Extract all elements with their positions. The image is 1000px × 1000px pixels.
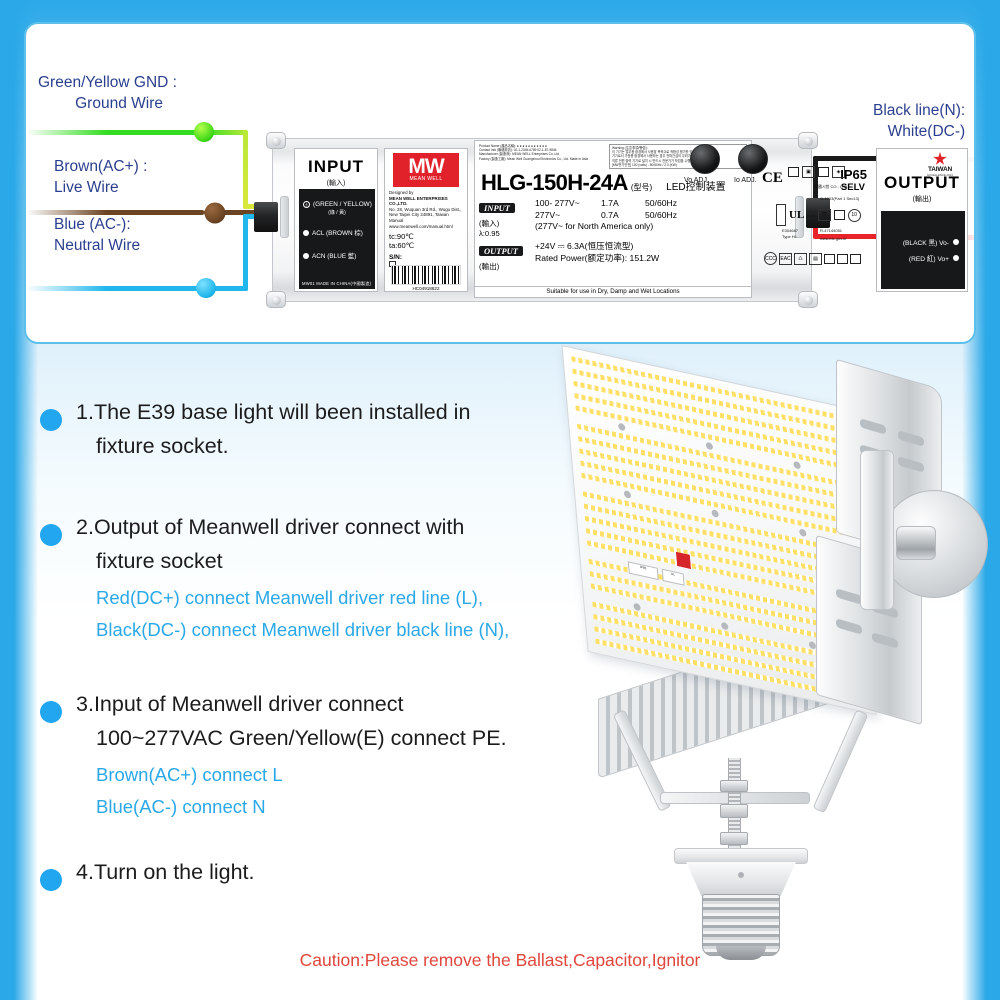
output-spec-block: OUTPUT (輸出) +24V ⎓ 6.3A(恒压恒流型) Rated Pow… — [475, 241, 751, 272]
ground-wire-left — [26, 130, 204, 135]
step-4-number: 4. — [76, 860, 94, 884]
tilt-arm — [860, 450, 894, 610]
ground-terminal-dot — [194, 122, 214, 142]
cert-row-top: ▣ ◈ — [788, 166, 845, 178]
label-ground-line1: Green/Yellow GND : — [38, 74, 177, 91]
side-tab-left — [280, 196, 289, 238]
board-screw — [799, 528, 807, 537]
board-screw — [706, 442, 714, 451]
bis-number-text: R-47144051 — [820, 228, 842, 233]
bis-box-icon: ⛉ — [818, 209, 831, 221]
ccc-mark-icon: CCC — [764, 252, 777, 265]
step-bullet-icon — [40, 409, 62, 431]
mount-lug-bottom-left — [266, 291, 286, 308]
input-spec-row-3: (277V~ for North America only) — [535, 221, 751, 233]
step-3-number: 3. — [76, 692, 94, 716]
instruction-step-2: 2.Output of Meanwell driver connect with… — [40, 510, 509, 646]
battery-icon: ▤ — [809, 253, 822, 265]
step-bullet-icon — [40, 701, 62, 723]
neutral-wire-left — [26, 286, 204, 291]
label-neutral-line2: Neutral Wire — [54, 235, 140, 256]
step-bullet-icon — [40, 524, 62, 546]
terminal-row-acl: ACL (BROWN 棕) — [299, 228, 375, 237]
board-screw — [618, 423, 626, 432]
taiwan-badge-name: TAIWAN — [917, 166, 963, 173]
mark-triangle-2-icon — [837, 254, 848, 264]
label-live-line1: Brown(AC+) : — [54, 158, 147, 175]
e39-vent-hole — [738, 872, 744, 878]
instruction-step-3: 3.Input of Meanwell driver connect 100~2… — [40, 687, 507, 823]
output-spec-row-1: +24V ⎓ 6.3A(恒压恒流型) — [535, 241, 751, 253]
company-manual-url: Manual www.meanwell.com/manual.html — [385, 218, 467, 229]
ul-mark-icon: UL — [789, 209, 804, 221]
label-ground-line2: Ground Wire — [38, 93, 177, 114]
label-black-line1: Black line(N): — [873, 102, 965, 119]
ul-type-label: Type HL — [782, 234, 797, 239]
ul-file-number: E304687 — [782, 228, 798, 233]
label-ground-wire: Green/Yellow GND : Ground Wire — [38, 72, 177, 114]
step-3-line-2: 100~277VAC Green/Yellow(E) connect PE. — [40, 721, 507, 755]
io-adjust-knob[interactable] — [738, 144, 768, 174]
lock-nut-middle — [720, 804, 748, 818]
vertical-mark-icon — [776, 204, 786, 226]
lifetime-circle-icon: 10 — [848, 209, 861, 222]
driver-certification-panel: CE IP65 SELV ▣ ◈ 韓國시험 CO., LTD. UL c us … — [758, 140, 870, 298]
input-panel-subtitle: (輸入) — [295, 178, 377, 188]
company-name: MEAN WELL ENTERPRISES CO.,LTD. — [385, 196, 467, 207]
ambient-temp-rating: ta:60℃ — [385, 240, 467, 251]
label-live-wire: Brown(AC+) : Live Wire — [54, 156, 149, 198]
swivel-pivot-bolt[interactable] — [896, 526, 936, 560]
input-connector — [254, 202, 278, 232]
step-2-number: 2. — [76, 515, 94, 539]
board-badge-ip65-text: IP65 — [640, 565, 647, 571]
input-spec-row-2: 277V~ 0.7A 50/60Hz — [535, 210, 751, 222]
board-screw — [793, 461, 801, 470]
bis-triangle-icon — [834, 210, 845, 220]
output-voltage-current: +24V ⎓ 6.3A(恒压恒流型) — [535, 241, 633, 253]
step-2-sub-2: Black(DC-) connect Meanwell driver black… — [40, 614, 509, 646]
mark-triangle-1-icon — [824, 254, 835, 264]
input-voltage-1: 100- 277V~ — [535, 198, 601, 210]
bis-website-text: www.bis.gov.in — [820, 236, 846, 241]
input-spec-tag: INPUT — [479, 203, 515, 213]
output-terminal-red: (RED 紅) Vo+ — [881, 253, 965, 263]
model-cn-text: (型号) — [631, 182, 652, 193]
vo-adjust-knob[interactable] — [690, 144, 720, 174]
class-box-icon: ▣ — [802, 166, 815, 178]
terminal-dot-icon — [303, 230, 309, 236]
ground-wire-vertical — [243, 130, 248, 208]
step-bullet-icon — [40, 869, 62, 891]
driver-input-panel: INPUT (輸入) ⏚ (GREEN / YELLOW) (綠 / 黃) AC… — [294, 148, 378, 292]
live-terminal-dot — [205, 203, 226, 224]
driver-brand-panel: MW MEAN WELL Designed by MEAN WELL ENTER… — [384, 148, 468, 292]
input-current-2: 0.7A — [601, 210, 645, 222]
input-frequency-2: 50/60Hz — [645, 210, 677, 222]
output-terminal-red-label: (RED 紅) Vo+ — [909, 253, 949, 263]
location-suitability-note: Suitable for use in Dry, Damp and Wet Lo… — [475, 286, 751, 295]
regulatory-box-icon: ◈ — [832, 166, 845, 178]
eac-mark-icon: EAC — [779, 253, 792, 265]
step-2-line-1: Output of Meanwell driver connect with — [94, 515, 464, 539]
step-2-sub-1: Red(DC+) connect Meanwell driver red lin… — [40, 582, 509, 614]
terminal-row-acn: ACN (BLUE 藍) — [299, 251, 375, 260]
logo-main-text: MW — [408, 158, 443, 175]
board-badge-ul-text: UL — [671, 572, 675, 577]
input-frequency-1: 50/60Hz — [645, 198, 677, 210]
e39-contact-tip — [716, 946, 766, 960]
input-panel-footer: MW01 MADE IN CHINA(中國製造) — [302, 281, 371, 287]
lock-nut-upper — [720, 780, 748, 792]
label-live-line2: Live Wire — [54, 177, 149, 198]
taiwan-flower-icon — [933, 152, 947, 166]
yoke-arm-right — [813, 709, 869, 813]
e39-shoulder — [686, 862, 796, 896]
bis-code-text: G-1003(Part 1 Sec13) — [820, 196, 859, 201]
meanwell-driver: INPUT (輸入) ⏚ (GREEN / YELLOW) (綠 / 黃) AC… — [272, 132, 812, 308]
driver-output-panel: TAIWAN EXCELLENCE 2013 OUTPUT (輸出) (BLAC… — [876, 148, 968, 292]
input-current-1: 1.7A — [601, 198, 645, 210]
terminal-label-acn: ACN (BLUE 藍) — [312, 251, 356, 260]
e39-flange — [674, 848, 808, 864]
mark-triangle-3-icon — [850, 254, 861, 264]
warning-triangle-icon — [788, 167, 799, 177]
wiring-diagram-card: Green/Yellow GND : Ground Wire Brown(AC+… — [24, 22, 976, 344]
terminal-row-ground: ⏚ (GREEN / YELLOW) — [299, 201, 375, 208]
step-2-line-2: fixture socket — [40, 544, 509, 578]
output-panel-subtitle: (輸出) — [877, 194, 967, 204]
neutral-terminal-dot — [196, 278, 216, 298]
logo-sub-text: MEAN WELL — [409, 176, 442, 182]
label-neutral-line1: Blue (AC-): — [54, 216, 131, 233]
input-voltage-2: 277V~ — [535, 210, 601, 222]
terminal-sub-ground: (綠 / 黃) — [299, 209, 375, 216]
step-1-number: 1. — [76, 400, 94, 424]
input-spec-sub: (輸入) — [479, 218, 531, 229]
ground-symbol-icon: ⏚ — [303, 201, 310, 208]
output-terminal-block: (BLACK 黑) Vo- (RED 紅) Vo+ — [881, 211, 965, 289]
step-3-sub-1: Brown(AC+) connect L — [40, 759, 507, 791]
input-region-note: (277V~ for North America only) — [535, 221, 653, 233]
input-panel-title: INPUT — [295, 157, 377, 177]
board-screw — [624, 490, 632, 499]
mount-lug-top-left — [266, 132, 286, 149]
output-dot-icon — [953, 255, 959, 261]
output-spec-sub: (輸出) — [479, 261, 531, 272]
recycle-icon: ♺ — [794, 253, 807, 265]
input-spec-block: INPUT (輸入) λ:0.95 100- 277V~ 1.7A 50/60H… — [475, 198, 751, 238]
output-terminal-black-label: (BLACK 黑) Vo- — [903, 237, 949, 247]
spec-header-warning: Warning (注意事項/警告): 이 기기는 업무용 환경에서 사용할 목적… — [609, 144, 747, 169]
output-spec-row-2: Rated Power(额定功率): 151.2W — [535, 253, 751, 265]
neutral-wire-vertical — [243, 214, 248, 291]
input-spec-row-1: 100- 277V~ 1.7A 50/60Hz — [535, 198, 751, 210]
step-1-line-2: fixture socket. — [40, 429, 470, 463]
terminal-label-acl: ACL (BROWN 棕) — [312, 228, 363, 237]
output-spec-tag: OUTPUT — [479, 246, 523, 256]
terminal-label-ground: (GREEN / YELLOW) — [313, 201, 372, 208]
label-neutral-wire: Blue (AC-): Neutral Wire — [54, 214, 140, 256]
step-4-line-1: Turn on the light. — [94, 860, 255, 884]
taiwan-badge-sub: EXCELLENCE 2013 — [917, 173, 963, 177]
cert-row-bottom: CCC EAC ♺ ▤ — [764, 252, 861, 265]
page-background: Green/Yellow GND : Ground Wire Brown(AC+… — [0, 0, 1000, 1000]
board-badge-ip65: IP65 — [628, 561, 659, 580]
lock-nut-lower — [720, 832, 748, 845]
product-photo: IP65 UL — [560, 360, 1000, 960]
instruction-step-1: 1.The E39 base light will been installed… — [40, 395, 470, 463]
regulatory-sub-text: 韓國시험 CO., LTD. — [814, 184, 848, 190]
cert-row-ul: UL c us ⛉ 10 — [776, 204, 861, 226]
terminal-dot-icon — [303, 253, 309, 259]
output-dot-icon — [953, 239, 959, 245]
vo-adjust-label: Vo ADJ. — [684, 177, 709, 184]
taiwan-excellence-badge: TAIWAN EXCELLENCE 2013 — [917, 152, 963, 177]
instruction-step-4: 4.Turn on the light. — [40, 855, 254, 889]
input-power-factor: λ:0.95 — [479, 229, 531, 238]
output-rated-power: Rated Power(额定功率): 151.2W — [535, 253, 659, 265]
model-number: HLG-150H-24A — [481, 170, 628, 196]
caution-triangle-icon — [818, 167, 829, 177]
label-black-line: Black line(N): White(DC-) — [873, 100, 965, 142]
step-3-sub-2: Blue(AC-) connect N — [40, 791, 507, 823]
io-adjust-label: Io ADJ. — [734, 177, 757, 184]
output-terminal-black: (BLACK 黑) Vo- — [881, 237, 965, 247]
step-3-line-1: Input of Meanwell driver connect — [94, 692, 404, 716]
ul-cus-text: c us — [807, 213, 814, 218]
label-black-line2: White(DC-) — [873, 121, 965, 142]
serial-number-label: S/N: — [385, 254, 467, 261]
input-terminal-block: ⏚ (GREEN / YELLOW) (綠 / 黃) ACL (BROWN 棕)… — [299, 189, 375, 289]
barcode-number: HC04918822 — [391, 286, 461, 291]
step-1-line-1: The E39 base light will been installed i… — [94, 400, 470, 424]
designed-by-label: Designed by — [385, 187, 467, 196]
board-badge-ul: UL — [662, 569, 685, 586]
board-screw — [711, 509, 719, 518]
meanwell-logo-icon: MW MEAN WELL — [393, 153, 459, 187]
spec-header-left: Product Name (產品名稱): ● ● ● ● ● ● ● ● ● ●… — [479, 144, 599, 169]
ce-mark-icon: CE — [762, 170, 783, 187]
barcode-icon — [391, 265, 461, 285]
